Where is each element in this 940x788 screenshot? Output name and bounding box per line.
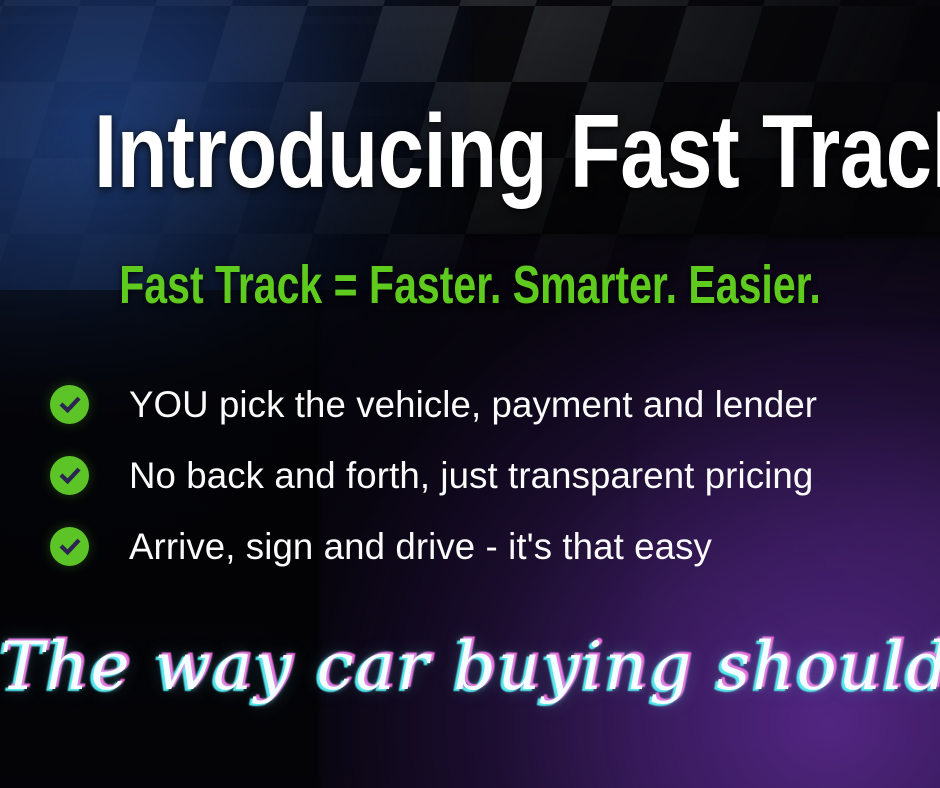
list-item-label: No back and forth, just transparent pric… [129,457,813,494]
poster-content: Introducing Fast Track Fast Track = Fast… [0,0,940,788]
list-item: YOU pick the vehicle, payment and lender [50,381,900,428]
checkmark-icon [50,385,89,424]
promo-poster: Introducing Fast Track Fast Track = Fast… [0,0,940,788]
list-item: Arrive, sign and drive - it's that easy [50,523,900,570]
subheadline: Fast Track = Faster. Smarter. Easier. [113,258,827,312]
benefits-list: YOU pick the vehicle, payment and lender… [50,381,900,594]
checkmark-icon [50,527,89,566]
headline: Introducing Fast Track [94,100,846,204]
list-item: No back and forth, just transparent pric… [50,452,900,499]
tagline-text: The way car buying should be. [0,628,940,705]
list-item-label: YOU pick the vehicle, payment and lender [129,386,817,423]
checkmark-icon [50,456,89,495]
tagline: The way car buying should be. The way ca… [0,612,940,722]
list-item-label: Arrive, sign and drive - it's that easy [129,528,712,565]
tagline-container: The way car buying should be. The way ca… [0,612,940,722]
